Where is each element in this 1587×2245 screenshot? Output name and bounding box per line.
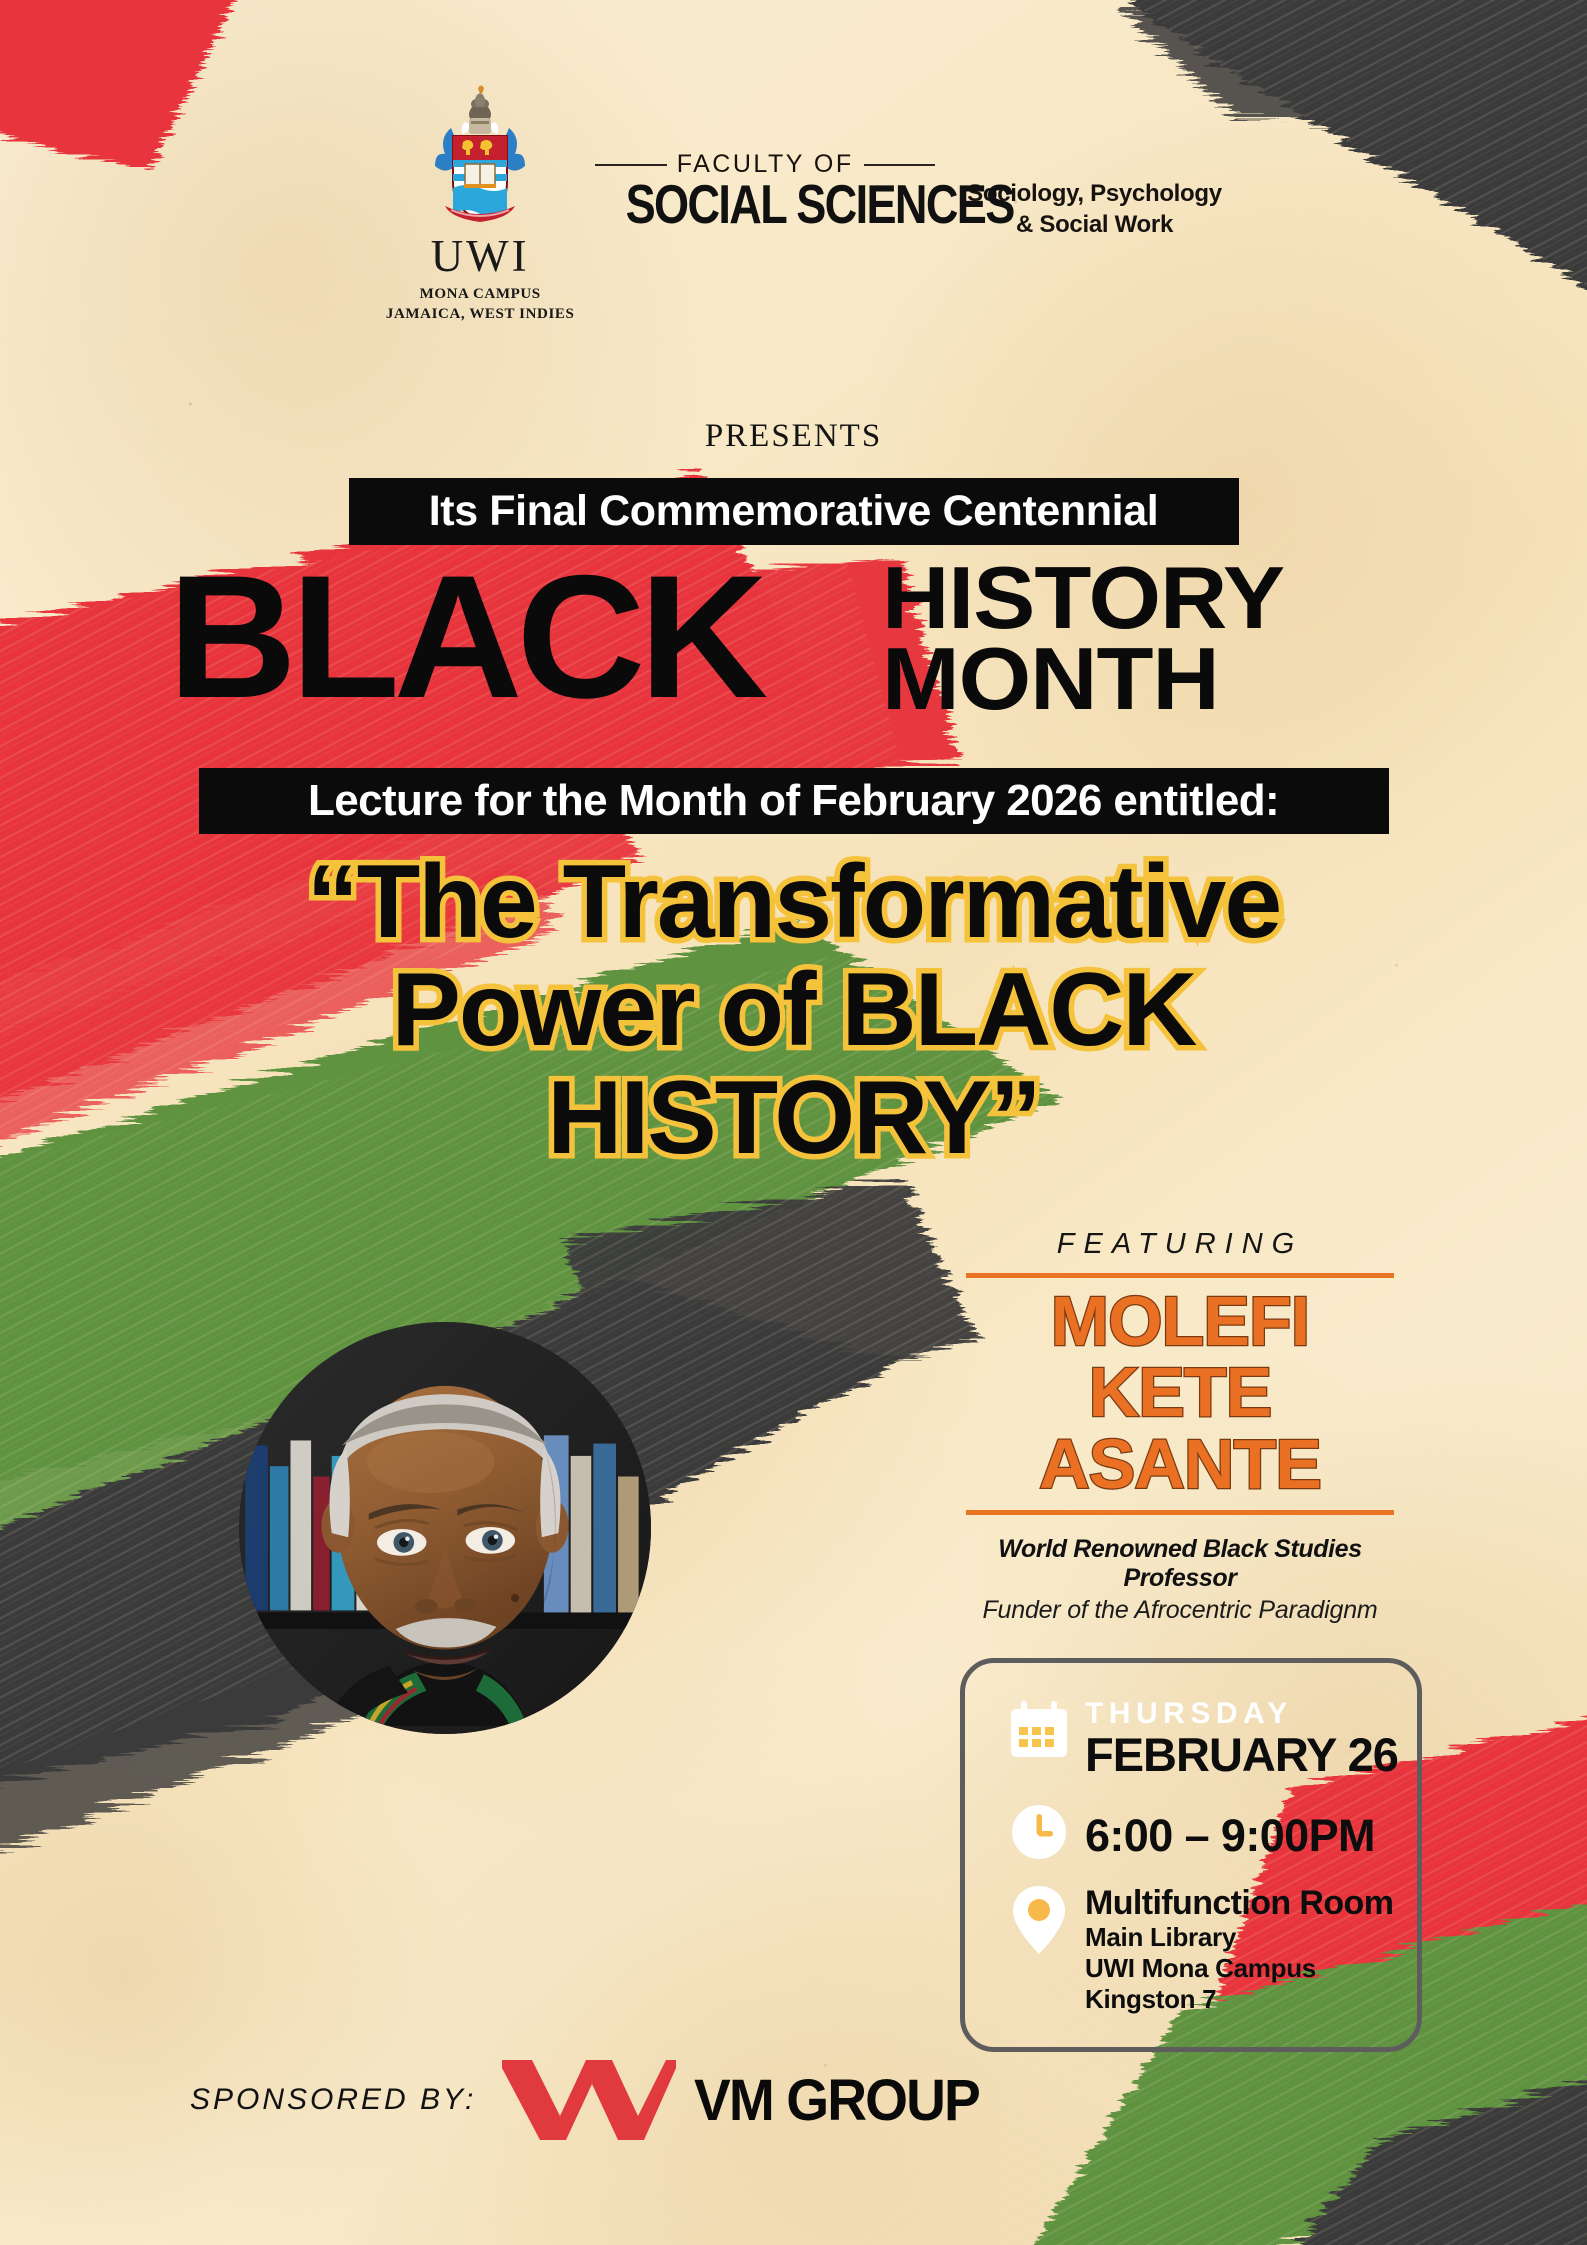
centennial-banner: Its Final Commemorative Centennial bbox=[349, 478, 1239, 545]
speaker-name-line-3: ASANTE bbox=[940, 1429, 1420, 1500]
event-date-row: THURSDAY FEBRUARY 26 bbox=[965, 1697, 1417, 1780]
vm-group-mark-icon bbox=[498, 2054, 678, 2146]
event-day-of-week: THURSDAY bbox=[1085, 1697, 1398, 1730]
event-venue: Multifunction Room bbox=[1085, 1884, 1393, 1922]
sponsor-block: SPONSORED BY: VM GROUP bbox=[190, 2054, 994, 2146]
event-details-card: THURSDAY FEBRUARY 26 6:00 – 9:00PM bbox=[960, 1658, 1422, 2052]
headline-month: MONTH bbox=[882, 639, 1284, 720]
speaker-name-line-1: MOLEFI bbox=[940, 1286, 1420, 1357]
event-time: 6:00 – 9:00PM bbox=[1085, 1802, 1375, 1862]
black-history-month-headline: BLACK HISTORY MONTH bbox=[0, 548, 1587, 768]
event-time-row: 6:00 – 9:00PM bbox=[965, 1802, 1417, 1862]
lecture-title-line-2: Power of BLACK bbox=[134, 956, 1454, 1064]
lecture-title-line-1: “The Transformative bbox=[134, 848, 1454, 956]
lecture-title-line-3: HISTORY” bbox=[134, 1064, 1454, 1172]
speaker-portrait-image bbox=[239, 1322, 651, 1734]
uwi-acronym: UWI bbox=[365, 234, 595, 279]
uwi-country-line: JAMAICA, WEST INDIES bbox=[365, 304, 595, 324]
speaker-name-line-2: KETE bbox=[940, 1357, 1420, 1428]
event-date: FEBRUARY 26 bbox=[1085, 1730, 1398, 1780]
presents-label: PRESENTS bbox=[0, 418, 1587, 455]
speaker-portrait-ring bbox=[205, 1288, 685, 1768]
lecture-title: “The Transformative Power of BLACK HISTO… bbox=[134, 848, 1454, 1172]
clock-icon bbox=[999, 1802, 1079, 1862]
uwi-campus-line: MONA CAMPUS bbox=[365, 284, 595, 304]
speaker-credential-2: Funder of the Afrocentric Paradignm bbox=[940, 1596, 1420, 1625]
event-address-line-3: Kingston 7 bbox=[1085, 1984, 1393, 2015]
map-pin-icon bbox=[999, 1884, 1079, 1956]
faculty-bottom-line: SOCIAL SCIENCES bbox=[626, 177, 905, 232]
event-location-row: Multifunction Room Main Library UWI Mona… bbox=[965, 1884, 1417, 2016]
vm-group-wordmark: VM GROUP bbox=[694, 2067, 979, 2134]
speaker-portrait bbox=[239, 1322, 651, 1734]
featuring-block: FEATURING MOLEFI KETE ASANTE World Renow… bbox=[940, 1228, 1420, 1625]
faculty-rule-left bbox=[595, 164, 667, 166]
uwi-coat-of-arms-icon bbox=[421, 80, 539, 230]
featuring-rule-top bbox=[966, 1273, 1394, 1278]
faculty-rule-right bbox=[864, 164, 936, 166]
featuring-rule-bottom bbox=[966, 1510, 1394, 1515]
featuring-label: FEATURING bbox=[940, 1228, 1420, 1261]
headline-history: HISTORY bbox=[882, 558, 1284, 639]
poster-canvas: UWI MONA CAMPUS JAMAICA, WEST INDIES FAC… bbox=[0, 0, 1587, 2245]
event-address-line-2: UWI Mona Campus bbox=[1085, 1953, 1393, 1984]
vm-group-logo: VM GROUP bbox=[498, 2054, 994, 2146]
lecture-banner: Lecture for the Month of February 2026 e… bbox=[199, 768, 1389, 834]
speaker-credential-1: World Renowned Black Studies Professor bbox=[940, 1535, 1420, 1593]
calendar-icon bbox=[999, 1697, 1079, 1761]
sponsored-by-label: SPONSORED BY: bbox=[190, 2083, 476, 2117]
headline-black: BLACK bbox=[168, 550, 762, 725]
event-address-line-1: Main Library bbox=[1085, 1922, 1393, 1953]
faculty-of-social-sciences-logo: FACULTY OF SOCIAL SCIENCES bbox=[595, 150, 935, 232]
header-logos: UWI MONA CAMPUS JAMAICA, WEST INDIES FAC… bbox=[0, 80, 1587, 325]
uwi-logo-block: UWI MONA CAMPUS JAMAICA, WEST INDIES bbox=[365, 80, 595, 325]
